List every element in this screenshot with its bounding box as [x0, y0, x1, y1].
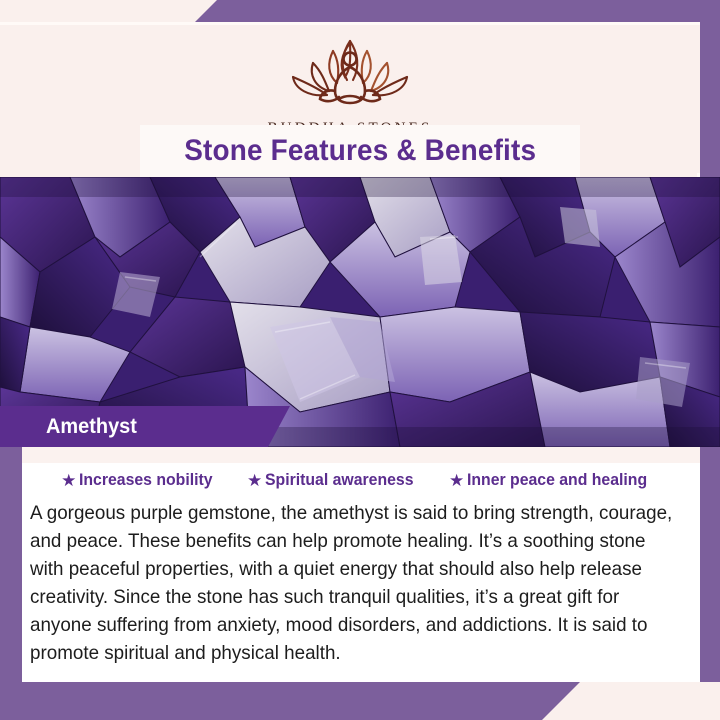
page-title: Stone Features & Benefits: [184, 134, 536, 168]
benefit-label: Inner peace and healing: [467, 470, 647, 490]
stone-info-card: BUDDHA STONES Stone Features & Benefits: [0, 0, 720, 720]
star-icon: ★: [449, 472, 464, 489]
brand-logo: BUDDHA STONES: [0, 33, 700, 137]
frame-band-left: [0, 447, 22, 682]
benefit-label: Increases nobility: [79, 470, 213, 490]
lotus-meditation-icon: [0, 33, 700, 116]
benefit-item: ★ Inner peace and healing: [449, 470, 661, 490]
content-panel: ★ Increases nobility ★ Spiritual awarene…: [22, 463, 700, 682]
frame-band-top: [195, 0, 720, 22]
benefit-label: Spiritual awareness: [265, 470, 414, 490]
frame-band-bottom: [0, 682, 580, 720]
cream-divider: [22, 447, 700, 463]
stone-name: Amethyst: [46, 415, 137, 439]
stone-label-bar: Amethyst: [0, 406, 290, 447]
benefit-item: ★ Spiritual awareness: [247, 470, 425, 490]
star-icon: ★: [247, 472, 262, 489]
title-panel: Stone Features & Benefits: [140, 125, 580, 177]
benefit-item: ★ Increases nobility: [61, 470, 223, 490]
stone-description: A gorgeous purple gemstone, the amethyst…: [30, 499, 675, 667]
star-icon: ★: [61, 472, 76, 489]
benefits-row: ★ Increases nobility ★ Spiritual awarene…: [22, 463, 700, 497]
